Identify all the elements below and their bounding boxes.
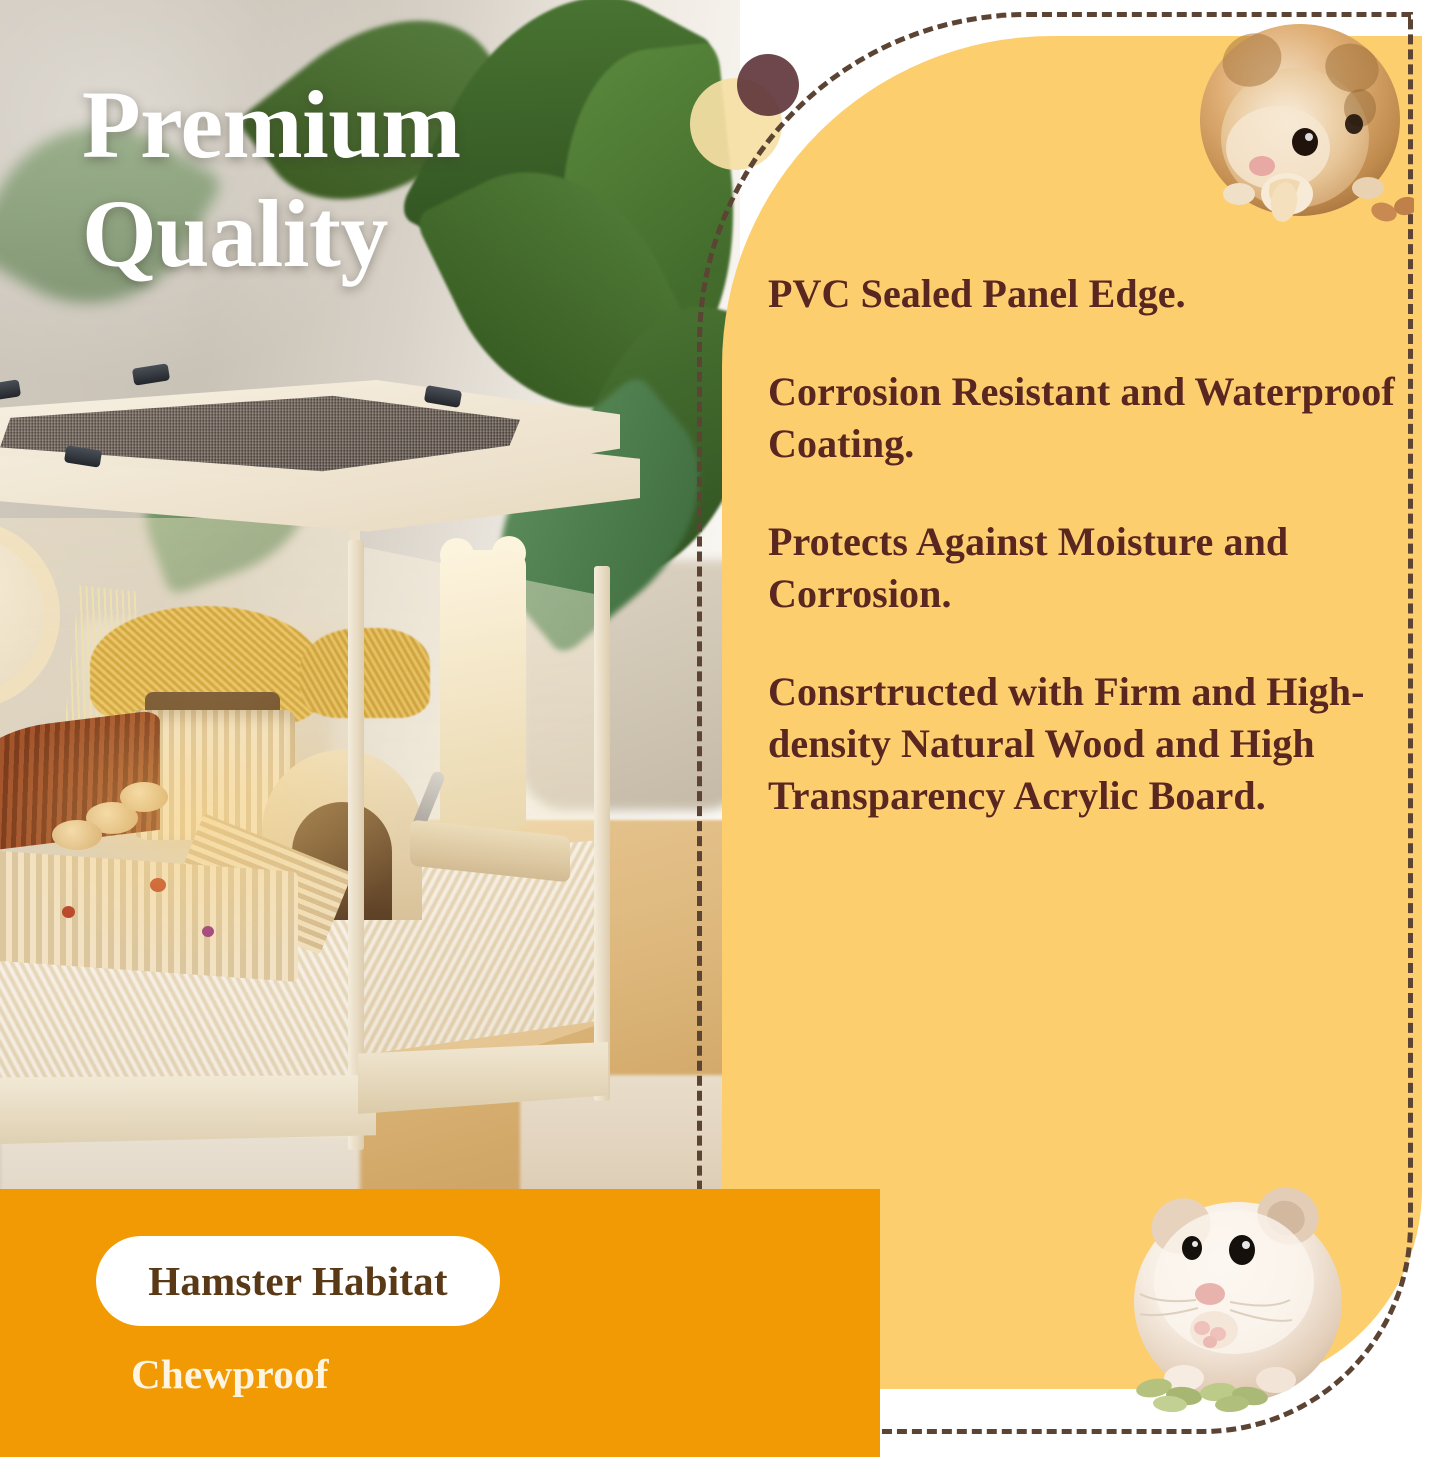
feature-item: Protects Against Moisture and Corrosion.	[768, 516, 1418, 620]
wood-stepping-disc	[120, 782, 168, 812]
feature-item: Consrtructed with Firm and High-density …	[768, 666, 1418, 822]
hamster-cage-product	[0, 370, 670, 1160]
page-title: Premium Quality	[82, 70, 702, 289]
hamster-icon-top	[1192, 16, 1414, 228]
food-pellet	[62, 906, 75, 918]
headline-line-1: Premium	[82, 71, 461, 178]
chewproof-label: Chewproof	[131, 1350, 329, 1398]
food-pellet	[202, 926, 214, 937]
hay-pile	[300, 628, 430, 718]
wood-stepping-disc	[52, 820, 102, 850]
feature-list: PVC Sealed Panel Edge. Corrosion Resista…	[768, 268, 1418, 822]
light-wood-fence	[0, 848, 298, 982]
cage-base-rail	[0, 1075, 376, 1145]
seed-icon	[1369, 199, 1399, 224]
decorative-circle-maroon	[737, 54, 799, 116]
feature-item: Corrosion Resistant and Waterproof Coati…	[768, 366, 1418, 470]
product-name-badge: Hamster Habitat	[96, 1236, 500, 1326]
feature-item: PVC Sealed Panel Edge.	[768, 268, 1418, 320]
hamster-icon-bottom	[1126, 1182, 1362, 1412]
lid-clip-icon	[0, 379, 21, 401]
product-name-label: Hamster Habitat	[148, 1257, 447, 1305]
cage-corner-post	[594, 566, 610, 1101]
headline-line-2: Quality	[82, 180, 388, 287]
food-pellet	[150, 878, 166, 892]
cage-base-rail	[358, 1042, 608, 1114]
water-bottle-stand	[440, 550, 526, 830]
